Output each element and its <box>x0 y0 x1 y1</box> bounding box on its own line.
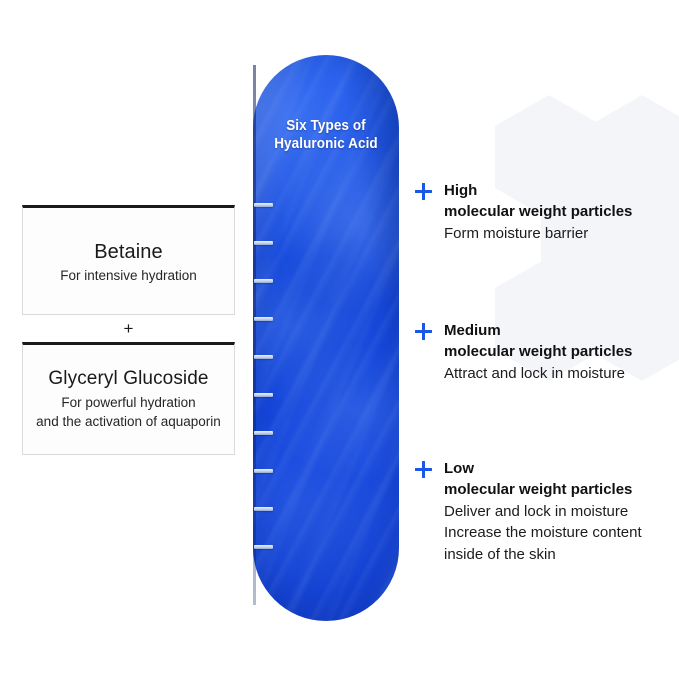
feature-text-block: High molecular weight particles Form moi… <box>444 180 632 244</box>
feature-description: Form moisture barrier <box>444 223 632 245</box>
feature-level: High <box>444 180 632 201</box>
ingredient-title: Glyceryl Glucoside <box>23 366 234 392</box>
ingredient-card-glyceryl-glucoside: Glyceryl Glucoside For powerful hydratio… <box>22 342 235 455</box>
bar-title-line-2: Hyaluronic Acid <box>258 135 394 153</box>
hexagon-shape <box>634 176 679 300</box>
card-plus-separator: + <box>22 315 235 342</box>
feature-text-block: Low molecular weight particles Deliver a… <box>444 458 642 565</box>
feature-text-block: Medium molecular weight particles Attrac… <box>444 320 632 384</box>
feature-description: Deliver and lock in moisture <box>444 501 642 523</box>
ingredient-title: Betaine <box>23 239 234 265</box>
infographic-canvas: Six Types of Hyaluronic Acid Betaine For… <box>0 0 679 679</box>
plus-icon <box>415 183 432 200</box>
plus-icon <box>415 323 432 340</box>
bar-title-line-1: Six Types of <box>258 117 394 135</box>
feature-item-high: High molecular weight particles Form moi… <box>415 180 632 244</box>
plus-icon <box>415 461 432 478</box>
feature-qualifier: molecular weight particles <box>444 479 642 501</box>
feature-description: Attract and lock in moisture <box>444 363 632 385</box>
feature-level: Medium <box>444 320 632 341</box>
feature-item-low: Low molecular weight particles Deliver a… <box>415 458 642 565</box>
ingredient-subtitle: For intensive hydration <box>23 267 234 286</box>
ingredient-subtitle-line-1: For powerful hydration <box>23 394 234 413</box>
feature-description: inside of the skin <box>444 544 642 566</box>
feature-item-medium: Medium molecular weight particles Attrac… <box>415 320 632 384</box>
feature-qualifier: molecular weight particles <box>444 341 632 363</box>
ingredient-subtitle-line-2: and the activation of aquaporin <box>23 413 234 432</box>
ingredient-card-betaine: Betaine For intensive hydration <box>22 205 235 315</box>
feature-level: Low <box>444 458 642 479</box>
feature-description: Increase the moisture content <box>444 522 642 544</box>
ingredient-card-list: Betaine For intensive hydration + Glycer… <box>22 205 235 455</box>
hyaluronic-acid-bar: Six Types of Hyaluronic Acid <box>253 55 399 621</box>
feature-qualifier: molecular weight particles <box>444 201 632 223</box>
bar-title: Six Types of Hyaluronic Acid <box>258 117 394 153</box>
